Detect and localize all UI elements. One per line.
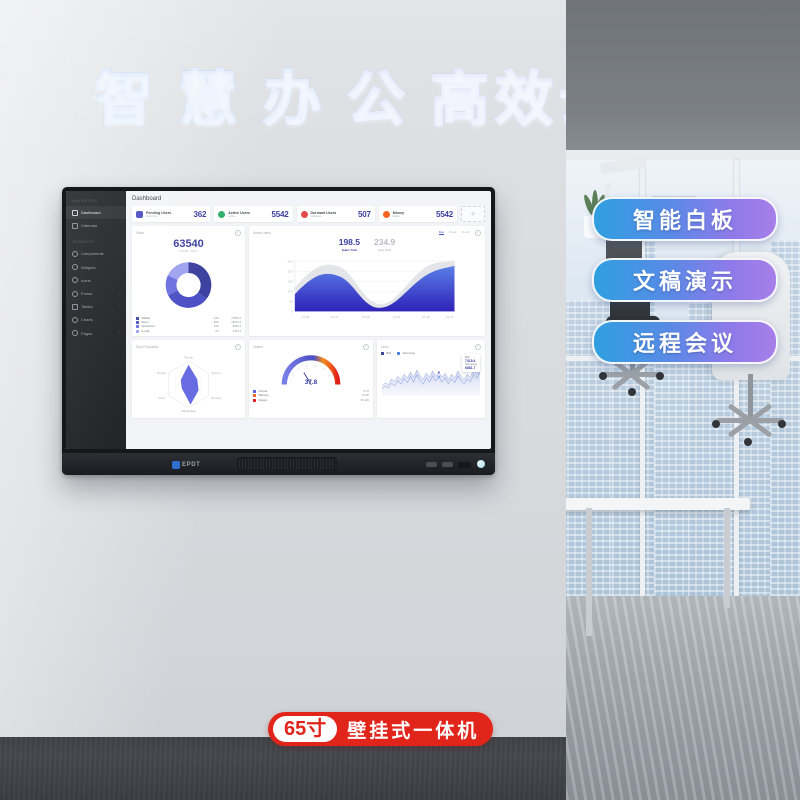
legend-label: Sponsored (142, 325, 206, 328)
flow-total-value: 234.9 (374, 238, 395, 247)
legend-swatch (136, 330, 139, 333)
dashboard-sidebar: NAVIGATION Dashboard Calendar ELEMENTS C… (66, 191, 126, 449)
office-floor (566, 596, 800, 800)
legend-label: Direct (142, 321, 206, 324)
tab-week[interactable]: Week (449, 230, 457, 236)
lines-card: Lines Ball Swimming (377, 340, 485, 418)
headline-part-1: 智慧办公 (95, 67, 431, 132)
legend-range: 90-100 (347, 399, 369, 402)
sidebar-item-widgets[interactable]: Widgets › (66, 261, 126, 274)
butter-total-label: Butter Total (342, 249, 357, 252)
tooltip-swim-value: 6881.7 (465, 366, 477, 370)
stat-card-pending-users[interactable]: Pending Users more info 362 (132, 206, 210, 222)
svg-text:01-09: 01-09 (393, 314, 401, 318)
legend-amount: 8260.2 (219, 325, 241, 328)
claims-gauge-chart: 37.8 (253, 352, 369, 388)
gear-icon[interactable] (475, 230, 481, 236)
active-users-area-chart: 050100 150200250 01-0601-0701-08 01-0901… (253, 254, 481, 322)
badge-label: 文稿演示 (633, 264, 737, 296)
badge-label: 远程会议 (633, 326, 737, 358)
desk-surface (566, 498, 750, 510)
stat-sublabel: dollars (393, 215, 436, 218)
sidebar-item-label: Calendar (81, 223, 120, 228)
badge-smart-whiteboard[interactable]: 智能白板 (592, 197, 778, 241)
active-users-area-card: Active Users Day Week Month (249, 226, 485, 336)
svg-text:Tennis: Tennis (184, 355, 193, 359)
tab-day[interactable]: Day (439, 230, 444, 236)
sales-donut-chart (136, 255, 241, 315)
hdmi-port[interactable] (458, 462, 471, 468)
sport-popularity-card: Sport Popularity Tennis (132, 340, 245, 418)
legend-range: 0-70 (347, 390, 369, 393)
sidebar-item-charts[interactable]: Charts › (66, 313, 126, 326)
sales-more-info: MORE INFO (136, 250, 241, 253)
stat-sublabel: more info (146, 215, 194, 218)
logo-mark-icon (172, 461, 180, 469)
badge-remote-meeting[interactable]: 远程会议 (592, 320, 778, 364)
product-caption: 65寸 壁挂式一体机 (268, 712, 493, 746)
product-poster: 智慧办公高效云会议 (0, 0, 800, 800)
svg-text:01-07: 01-07 (331, 314, 339, 318)
legend-item: Danger 90-100 (253, 399, 369, 402)
legend-label: Warning (259, 394, 348, 397)
chevron-right-icon: › (119, 305, 120, 309)
svg-text:01-11: 01-11 (446, 314, 454, 318)
stat-value: 362 (194, 210, 207, 219)
sidebar-section-caption-2: ELEMENTS (66, 237, 126, 247)
gear-icon[interactable] (235, 344, 241, 350)
svg-text:Basketball: Basketball (181, 409, 196, 413)
chair-caster-white (744, 438, 752, 446)
chair-caster-white (712, 420, 720, 428)
flow-total-label: Flow Total (378, 249, 391, 252)
svg-text:50: 50 (289, 299, 293, 303)
chevron-right-icon: › (119, 252, 120, 256)
svg-text:01-06: 01-06 (302, 314, 310, 318)
stat-card-active-users[interactable]: Active Users online 5542 (214, 206, 292, 222)
sidebar-item-pages[interactable]: Pages › (66, 327, 126, 340)
pages-icon (72, 330, 78, 336)
display-screen: NAVIGATION Dashboard Calendar ELEMENTS C… (66, 191, 491, 449)
gear-icon[interactable] (235, 230, 241, 236)
stat-card-money[interactable]: Money dollars 5542 (379, 206, 457, 222)
sidebar-item-label: Components (81, 251, 116, 256)
legend-amount: 22874.4 (219, 321, 241, 324)
sidebar-item-label: Pages (81, 331, 116, 336)
card-title: Claims (253, 345, 263, 349)
sidebar-item-label: Tables (81, 304, 116, 309)
page-title: Dashboard (132, 196, 485, 202)
form-icon (72, 291, 78, 297)
sidebar-item-label: Widgets (81, 265, 116, 270)
area-chart-totals: 198.5 Butter Total 234.9 Flow Total (253, 238, 481, 252)
svg-text:200: 200 (288, 269, 293, 273)
gear-icon[interactable] (363, 344, 369, 350)
svg-text:Golf: Golf (159, 396, 165, 400)
svg-text:150: 150 (288, 279, 293, 283)
legend-swatch (253, 394, 256, 397)
legend-label: Normal (259, 390, 348, 393)
calendar-icon (72, 223, 78, 229)
star-icon (72, 277, 78, 283)
stat-value: 5542 (436, 210, 453, 219)
caption-text: 壁挂式一体机 (347, 716, 479, 743)
legend-swatch (136, 317, 139, 320)
sidebar-item-label: Charts (81, 317, 116, 322)
coin-icon (383, 211, 390, 218)
office-photo-panel (566, 0, 800, 800)
svg-text:100: 100 (288, 289, 293, 293)
legend-item: E-mail 7% 4447.8 (136, 330, 241, 333)
legend-pct: 44% (205, 317, 219, 320)
badge-document-presentation[interactable]: 文稿演示 (592, 258, 778, 302)
sidebar-item-label: Dashboard (81, 210, 120, 215)
legend-swatch (136, 321, 139, 324)
widget-icon (72, 264, 78, 270)
screen-size-badge: 65寸 (273, 716, 337, 742)
svg-text:0: 0 (291, 309, 293, 313)
legend-swatch (381, 352, 384, 355)
sidebar-item-tables[interactable]: Tables › (66, 300, 126, 313)
add-card-button[interactable]: + (461, 206, 485, 222)
table-icon (72, 304, 78, 310)
usb-port-2[interactable] (442, 462, 453, 467)
butter-total-value: 198.5 (339, 238, 360, 247)
sidebar-item-forms[interactable]: Forms › (66, 287, 126, 300)
svg-text:01-10: 01-10 (422, 314, 430, 318)
legend-amount: 27857.8 (219, 317, 241, 320)
stat-card-dormant-users[interactable]: Dormant Users undertow 507 (297, 206, 375, 222)
chevron-right-icon: › (119, 318, 120, 322)
sales-total-value: 63540 (136, 238, 241, 250)
chair-caster (599, 372, 607, 380)
legend-item: Normal 0-70 (253, 390, 369, 393)
wall-mounted-display: NAVIGATION Dashboard Calendar ELEMENTS C… (62, 187, 495, 475)
stat-sublabel: online (228, 215, 271, 218)
sport-radar-chart: Tennis Soccer Hockey Basketball Golf Hob… (136, 352, 241, 414)
speaker-grille (237, 457, 337, 471)
dashboard-main: Dashboard Pending Users more info 362 (126, 191, 491, 449)
chevron-right-icon: › (119, 278, 120, 282)
card-title: Sport Popularity (136, 345, 159, 349)
sidebar-item-label: Icons (81, 278, 116, 283)
legend-item: Sponsored 13% 8260.2 (136, 325, 241, 328)
sales-donut-card: Sales 63540 MORE INFO (132, 226, 245, 336)
svg-text:250: 250 (288, 259, 293, 263)
grid-icon (72, 251, 78, 257)
logo-text: EPDT (182, 462, 200, 468)
legend-pct: 38% (205, 321, 219, 324)
stat-sublabel: undertow (311, 215, 359, 218)
sidebar-item-calendar[interactable]: Calendar (66, 219, 126, 232)
sidebar-item-components[interactable]: Components › (66, 247, 126, 260)
claims-gauge-card: Claims (249, 340, 373, 418)
sidebar-item-dashboard[interactable]: Dashboard (66, 206, 126, 219)
card-title: Sales (136, 231, 144, 235)
power-led[interactable] (477, 460, 485, 468)
badge-label: 智能白板 (633, 203, 737, 235)
legend-label: Swimming (402, 352, 414, 355)
ceiling-dark-band (566, 0, 800, 160)
svg-text:Hobby: Hobby (157, 371, 166, 375)
legend-swatch (136, 325, 139, 328)
chair-caster (628, 388, 636, 396)
brand-logo: EPDT (172, 460, 200, 469)
svg-text:Soccer: Soccer (211, 371, 221, 375)
svg-text:Hockey: Hockey (211, 396, 222, 400)
tab-month[interactable]: Month (462, 230, 470, 236)
foreground-floor (0, 737, 566, 800)
legend-amount: 4447.8 (219, 330, 241, 333)
chart-icon (72, 317, 78, 323)
sidebar-item-icons[interactable]: Icons › (66, 274, 126, 287)
cloud-icon (218, 211, 225, 218)
legend-swatch (253, 399, 256, 402)
legend-label: Danger (259, 399, 348, 402)
legend-item: Swimming (397, 352, 415, 355)
display-bottom-bezel: EPDT (62, 453, 495, 475)
legend-item: Ball (381, 352, 391, 355)
desk-leg (724, 508, 730, 608)
legend-pct: 13% (205, 325, 219, 328)
chevron-right-icon: › (119, 265, 120, 269)
legend-item: Affiliate 44% 27857.8 (136, 317, 241, 320)
legend-range: 70-90 (347, 394, 369, 397)
card-title: Active Users (253, 231, 271, 235)
chair-post-white (748, 374, 753, 420)
card-title: Lines (381, 345, 389, 349)
gear-icon[interactable] (475, 344, 481, 350)
legend-label: Ball (387, 352, 391, 355)
legend-label: Affiliate (142, 317, 206, 320)
svg-text:37.8: 37.8 (305, 379, 318, 386)
home-icon (72, 210, 78, 216)
dashboard-app: NAVIGATION Dashboard Calendar ELEMENTS C… (66, 191, 491, 449)
sidebar-item-label: Forms (81, 291, 116, 296)
usb-port-1[interactable] (426, 462, 437, 467)
legend-swatch (397, 352, 400, 355)
svg-text:01-08: 01-08 (362, 314, 370, 318)
legend-pct: 7% (205, 330, 219, 333)
stat-value: 507 (358, 210, 371, 219)
legend-item: Direct 38% 22874.4 (136, 321, 241, 324)
chart-row-1: Sales 63540 MORE INFO (132, 226, 485, 336)
chevron-right-icon: › (119, 292, 120, 296)
desk-leg (586, 508, 592, 636)
stat-value: 5542 (272, 210, 289, 219)
chart-tooltip: Ball 7318.4 Swimming 6881.7 (462, 354, 480, 372)
sidebar-section-caption: NAVIGATION (66, 196, 126, 206)
chevron-right-icon: › (119, 331, 120, 335)
chair-caster (656, 372, 664, 380)
stat-card-row: Pending Users more info 362 Active Users… (132, 206, 485, 222)
legend-label: E-mail (142, 330, 206, 333)
square-icon (136, 211, 143, 218)
legend-item: Warning 70-90 (253, 394, 369, 397)
chart-row-2: Sport Popularity Tennis (132, 340, 485, 418)
chair-caster-white (778, 420, 786, 428)
heart-icon (301, 211, 308, 218)
legend-swatch (253, 390, 256, 393)
